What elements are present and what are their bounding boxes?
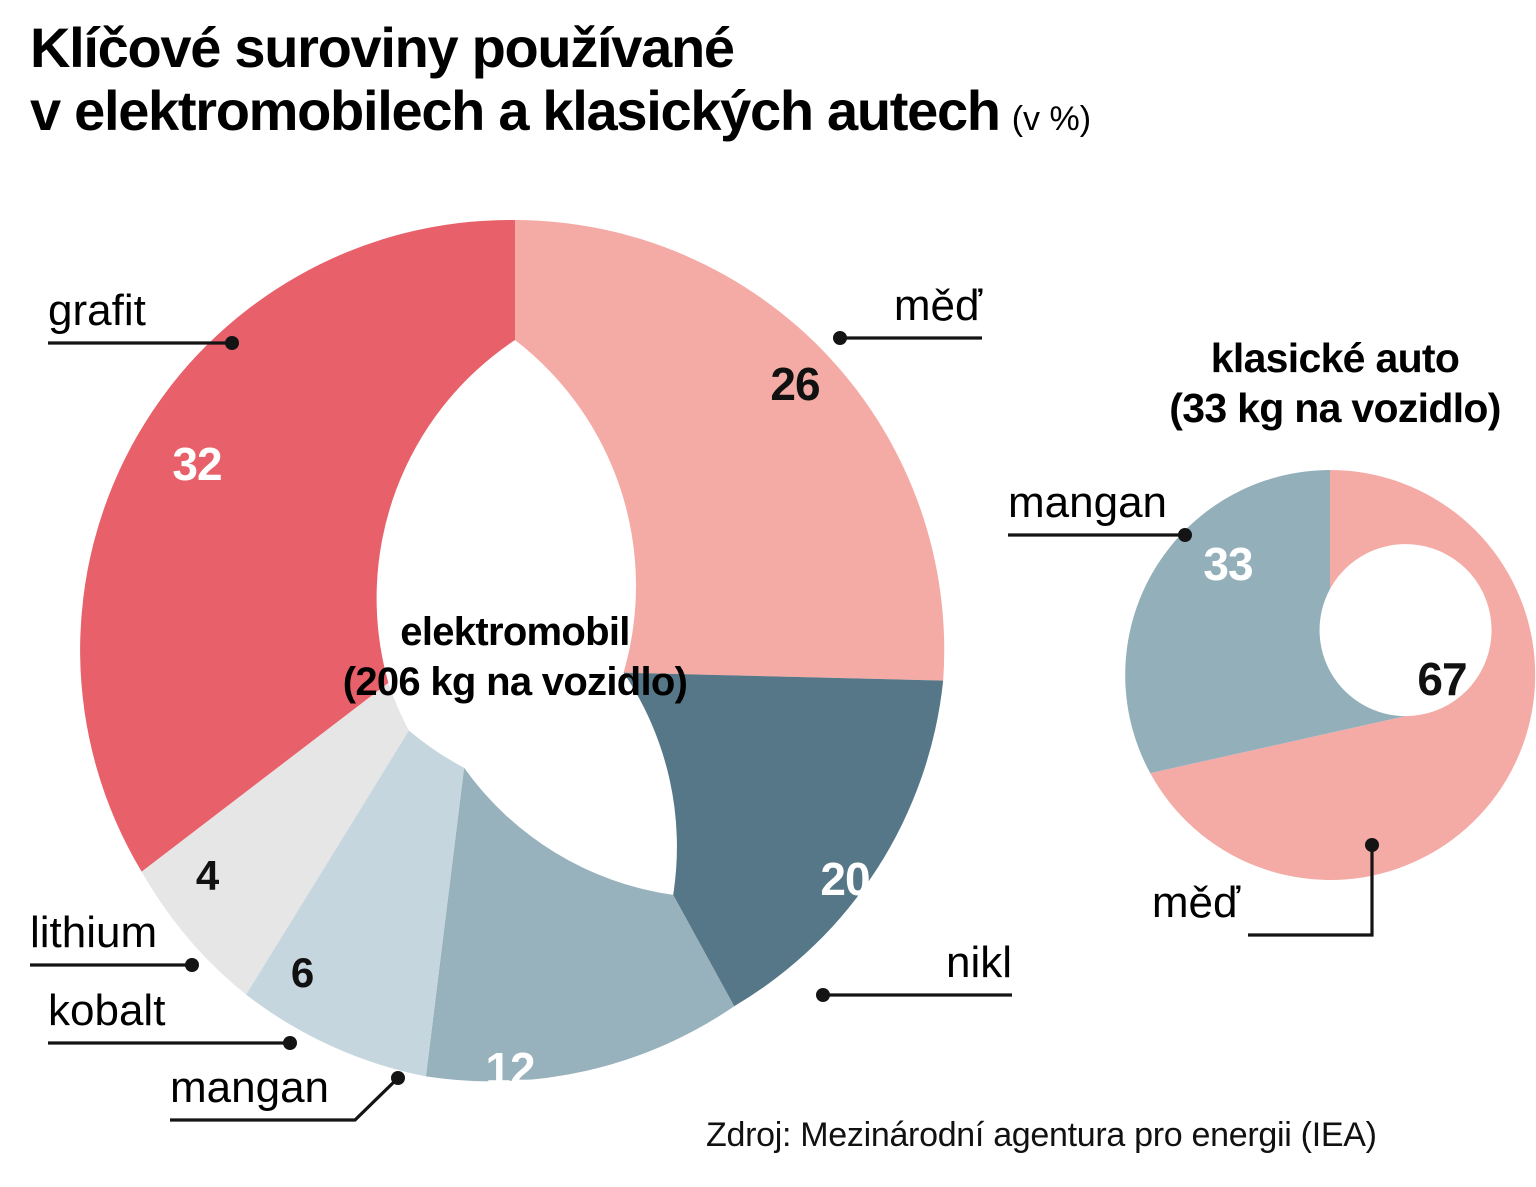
leader-lithium (30, 958, 199, 972)
ice-leader-mangan (1008, 528, 1192, 542)
ev-center-line-1: elektromobil (400, 610, 629, 654)
ice-donut-chart: klasické auto (33 kg na vozidlo) 33 67 m… (1000, 330, 1536, 950)
value-med: 26 (770, 358, 819, 410)
ice-value-med: 67 (1417, 653, 1466, 705)
ice-label-mangan: mangan (1008, 478, 1167, 527)
value-nikl: 20 (820, 853, 869, 905)
title-line-2: v elektromobilech a klasických autech (30, 79, 1000, 142)
ice-value-mangan: 33 (1203, 538, 1252, 590)
value-grafit: 32 (172, 438, 221, 490)
value-mangan: 12 (485, 1043, 534, 1095)
title-line-2-wrap: v elektromobilech a klasických autech(v … (30, 79, 1430, 142)
source-note: Zdroj: Mezinárodní agentura pro energii … (706, 1116, 1377, 1155)
leader-nikl (816, 988, 1012, 1002)
value-lithium: 4 (196, 852, 220, 899)
label-mangan: mangan (170, 1063, 329, 1112)
title-line-1: Klíčové suroviny používané (30, 16, 1430, 79)
label-lithium: lithium (30, 908, 157, 957)
page-title: Klíčové suroviny používané v elektromobi… (30, 16, 1430, 143)
title-unit-suffix: (v %) (1000, 100, 1091, 138)
label-grafit: grafit (48, 286, 146, 335)
value-kobalt: 6 (291, 949, 313, 996)
leader-kobalt (48, 1036, 297, 1050)
ice-label-med: měď (1152, 878, 1241, 927)
ice-heading-line-1: klasické auto (1211, 335, 1459, 381)
ice-heading-line-2: (33 kg na vozidlo) (1169, 385, 1500, 431)
infographic-page: Klíčové suroviny používané v elektromobi… (0, 0, 1536, 1187)
label-med: měď (894, 281, 983, 330)
leader-med (833, 331, 982, 345)
ev-center-line-2: (206 kg na vozidlo) (343, 660, 688, 704)
ev-donut-chart: 26 20 12 6 4 32 grafit měď nikl (0, 190, 1030, 1150)
label-kobalt: kobalt (48, 986, 165, 1035)
